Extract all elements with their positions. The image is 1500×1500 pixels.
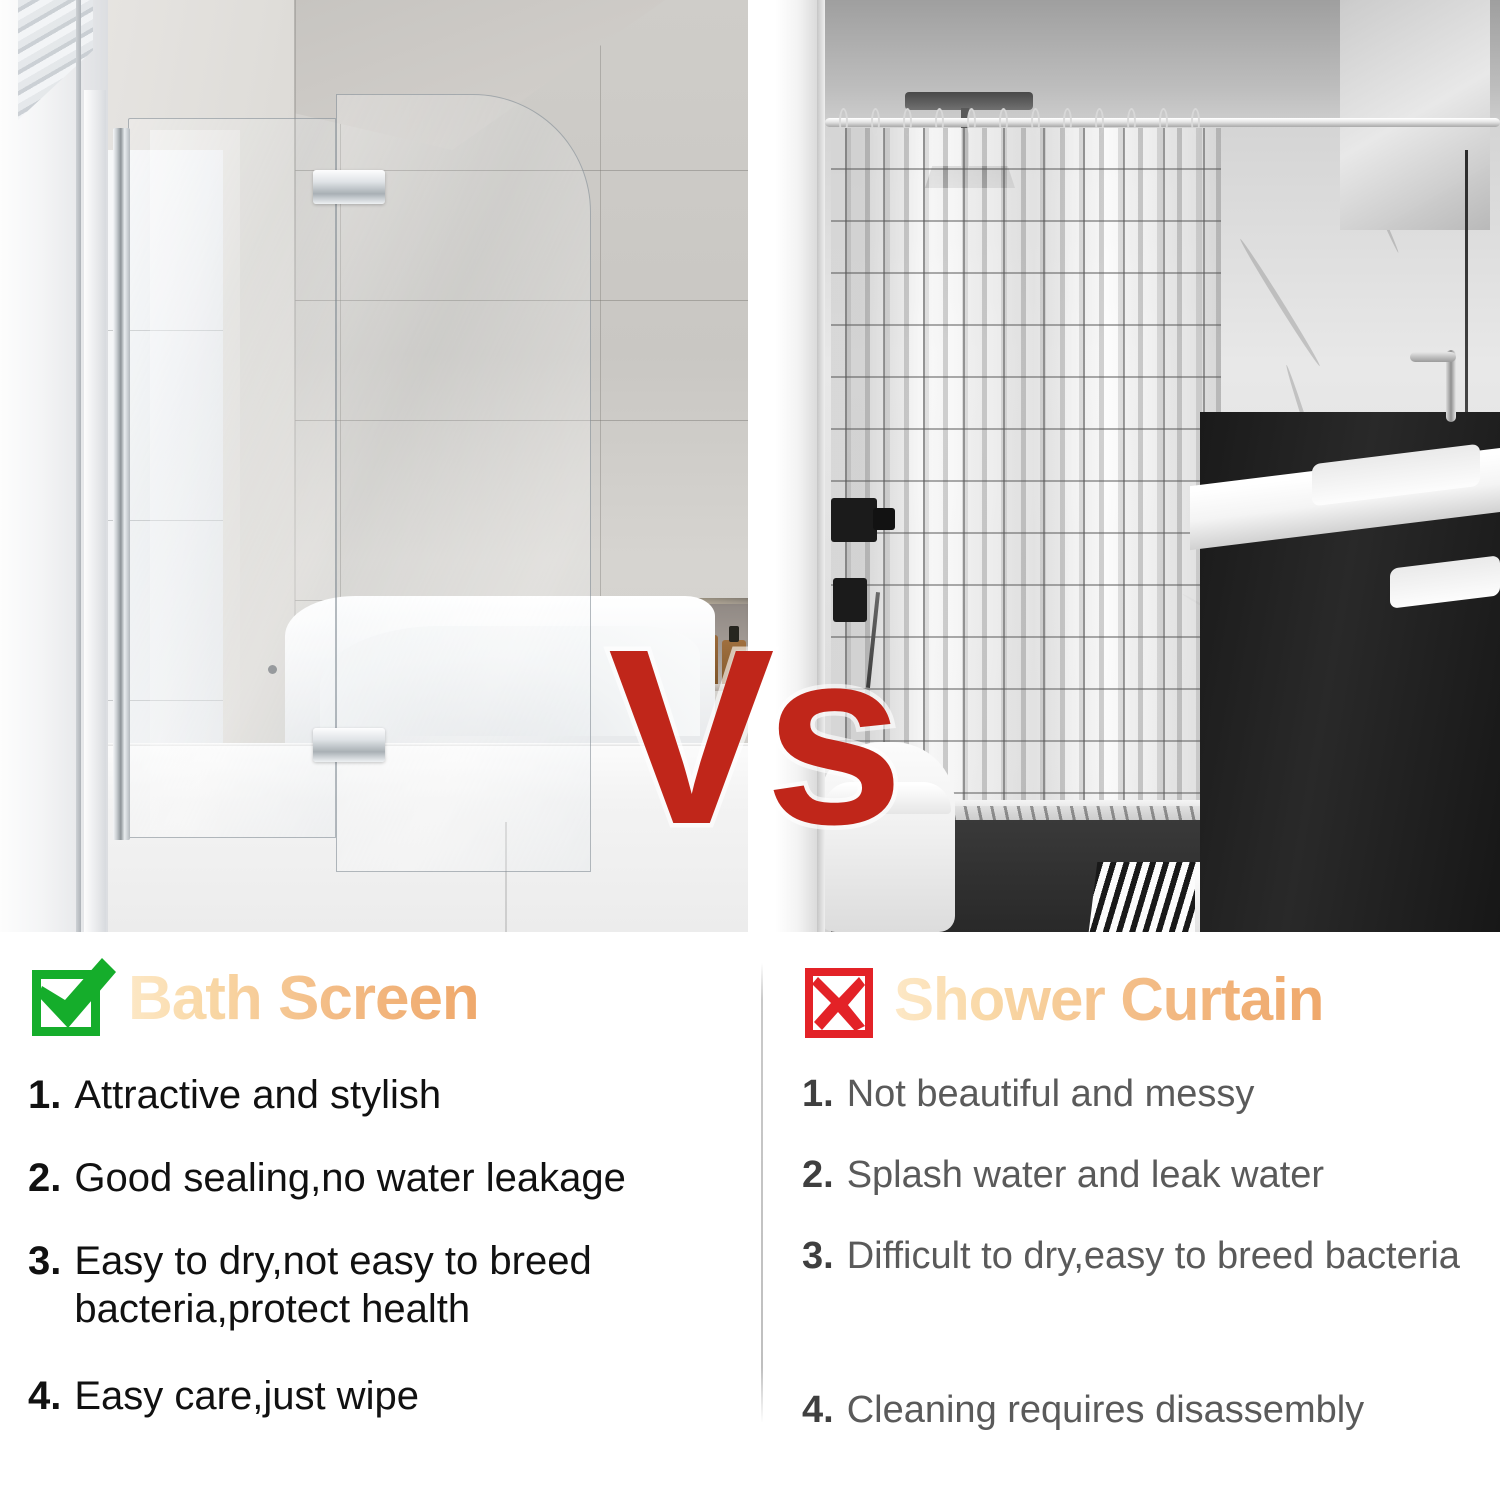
item-text: Difficult to dry,easy to breed bacteria: [847, 1234, 1460, 1279]
chrome-wall-post: [113, 128, 130, 840]
item-number: 2.: [28, 1155, 61, 1202]
black-shower-valve: [831, 498, 877, 542]
comparison-text-area: Bath Screen 1. Attractive and stylish 2.…: [0, 932, 1500, 1500]
list-item: 3. Difficult to dry,easy to breed bacter…: [802, 1234, 1500, 1279]
photo-row: Vs: [0, 0, 1500, 932]
shower-curtain-heading: Shower Curtain: [802, 960, 1323, 1038]
item-number: 4.: [802, 1388, 834, 1433]
item-text: Cleaning requires disassembly: [847, 1388, 1364, 1433]
item-text: Good sealing,no water leakage: [74, 1155, 625, 1202]
list-item: 4. Cleaning requires disassembly: [802, 1388, 1500, 1433]
item-text: Easy care,just wipe: [74, 1373, 419, 1420]
item-number: 1.: [802, 1072, 834, 1117]
item-text: Attractive and stylish: [74, 1072, 441, 1119]
shower-curtain-list: 1. Not beautiful and messy 2. Splash wat…: [802, 1072, 1500, 1469]
item-number: 3.: [28, 1238, 61, 1285]
glass-panel-fixed: [128, 118, 336, 838]
list-item: 1. Attractive and stylish: [28, 1072, 728, 1119]
list-item: 2. Good sealing,no water leakage: [28, 1155, 728, 1202]
column-divider: [761, 963, 763, 1423]
item-text: Not beautiful and messy: [847, 1072, 1255, 1117]
vs-badge: Vs: [608, 612, 894, 862]
list-item: 4. Easy care,just wipe: [28, 1373, 728, 1420]
chrome-hinge-top: [313, 170, 385, 204]
chrome-hinge-bottom: [313, 728, 385, 762]
shower-curtain-title: Shower Curtain: [894, 968, 1323, 1031]
bath-screen-title: Bath Screen: [128, 966, 479, 1031]
bath-screen-heading: Bath Screen: [28, 960, 479, 1038]
item-text: Easy to dry,not easy to breed bacteria,p…: [74, 1238, 728, 1332]
list-item: 3. Easy to dry,not easy to breed bacteri…: [28, 1238, 728, 1332]
list-item: 1. Not beautiful and messy: [802, 1072, 1500, 1117]
item-number: 2.: [802, 1153, 834, 1198]
item-number: 1.: [28, 1072, 61, 1119]
item-text: Splash water and leak water: [847, 1153, 1324, 1198]
item-number: 3.: [802, 1234, 834, 1279]
red-x-box-icon: [802, 960, 876, 1038]
item-number: 4.: [28, 1373, 61, 1420]
list-item: 2. Splash water and leak water: [802, 1153, 1500, 1198]
green-check-box-icon: [28, 960, 110, 1038]
comparison-infographic: Vs Bath Screen 1. Attractive and stylish: [0, 0, 1500, 1500]
rain-shower-head: [905, 92, 1033, 110]
bath-screen-list: 1. Attractive and stylish 2. Good sealin…: [28, 1072, 728, 1456]
